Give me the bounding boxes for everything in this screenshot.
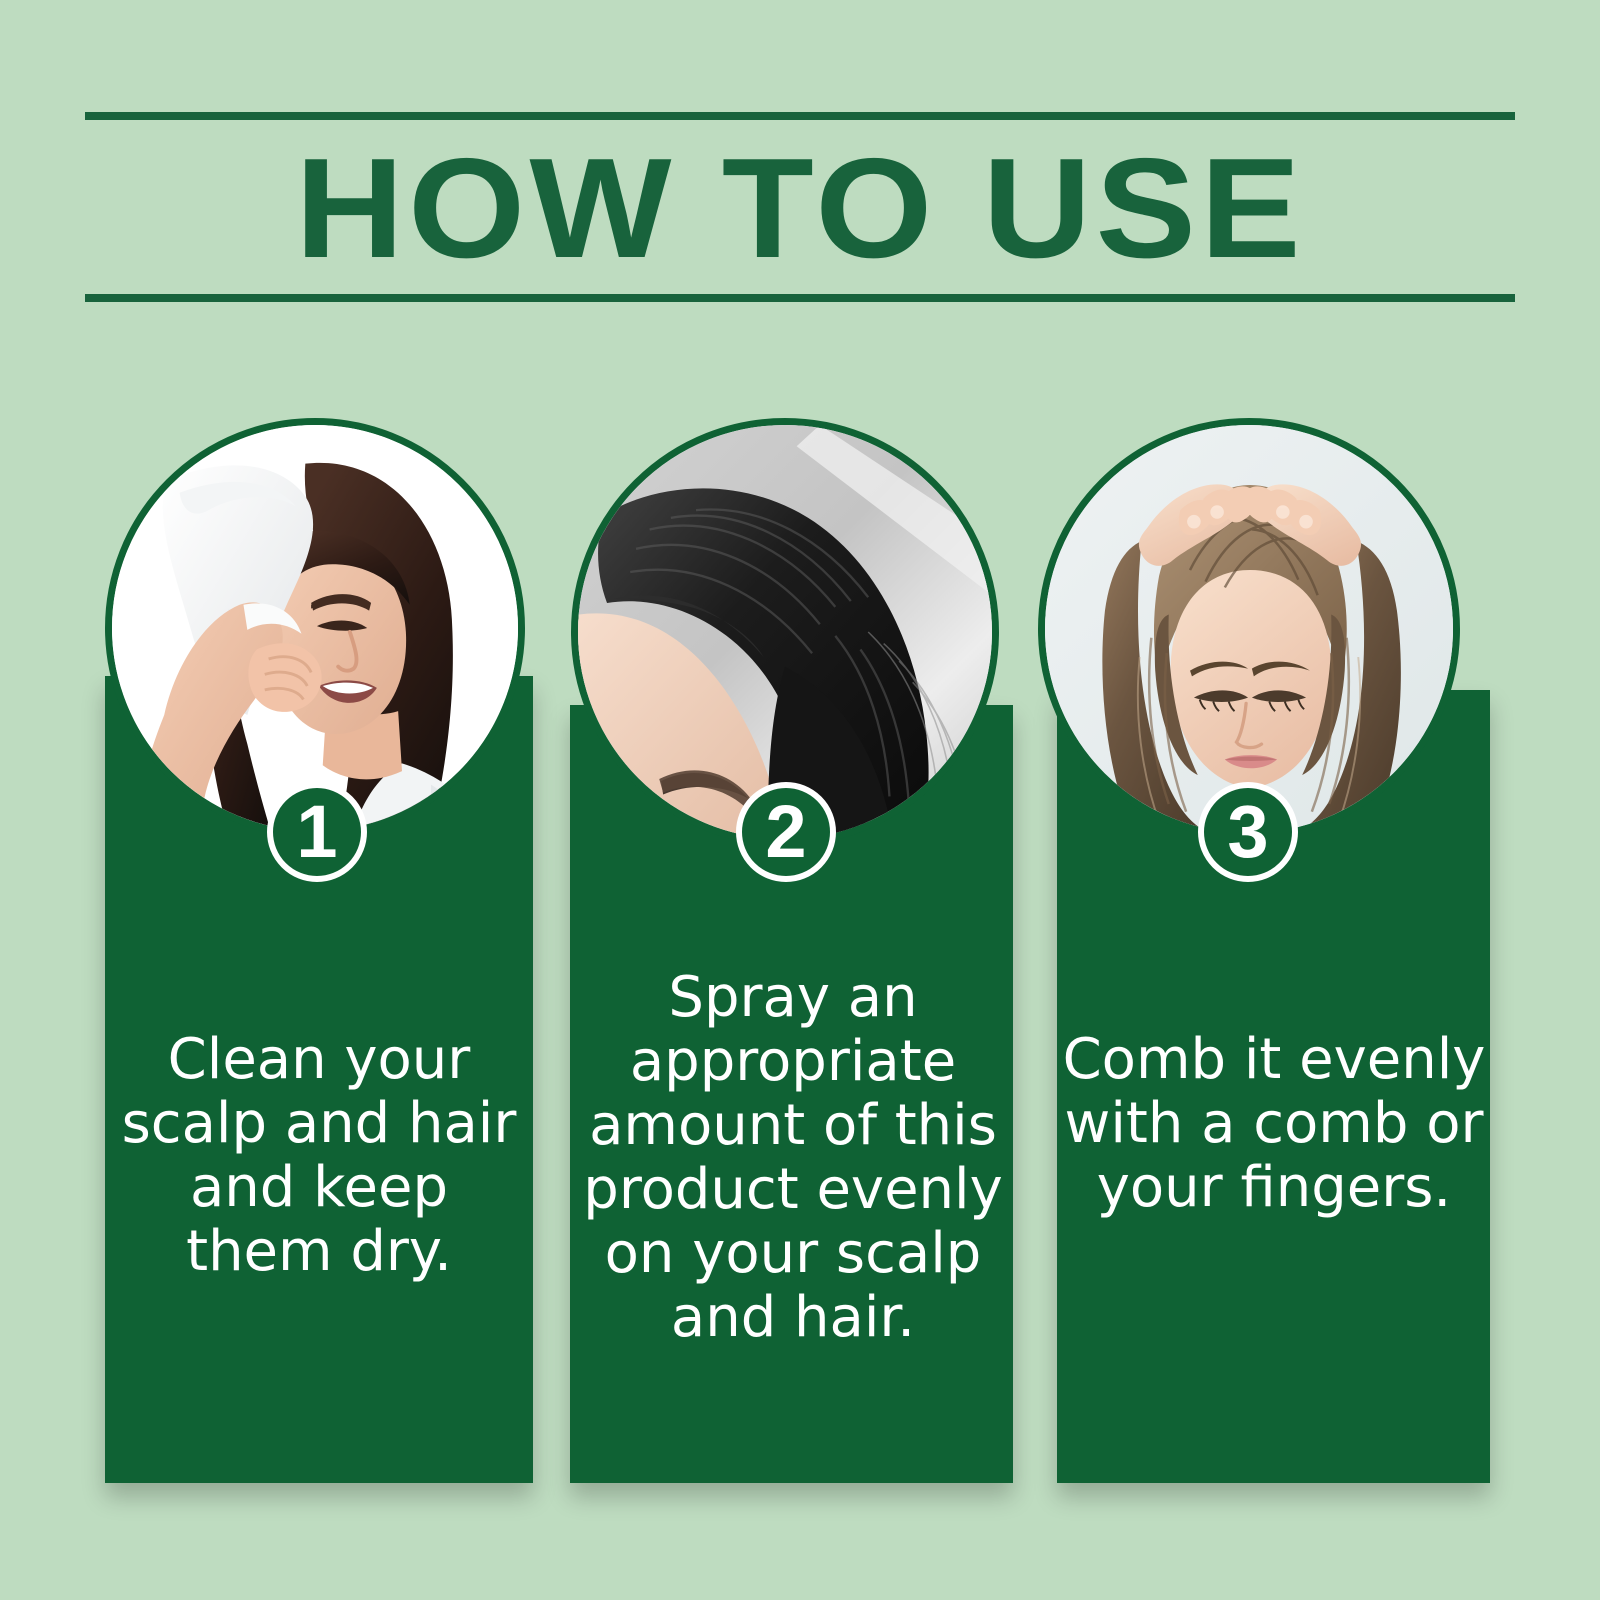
step-number-badge-1: 1	[267, 782, 367, 882]
steps-container: 1 Clean your scalp and hair and keep the…	[0, 0, 1600, 1600]
step-caption-2: Spray an appropriate amount of this prod…	[578, 966, 1008, 1350]
step-caption-3: Comb it evenly with a comb or your finge…	[1062, 1028, 1486, 1220]
step-photo-1	[105, 418, 525, 838]
step-number-badge-2: 2	[736, 782, 836, 882]
step-photo-3	[1038, 418, 1460, 840]
step-caption-1: Clean your scalp and hair and keep them …	[115, 1028, 523, 1284]
step-number-badge-3: 3	[1198, 782, 1298, 882]
how-to-use-infographic: HOW TO USE	[0, 0, 1600, 1600]
